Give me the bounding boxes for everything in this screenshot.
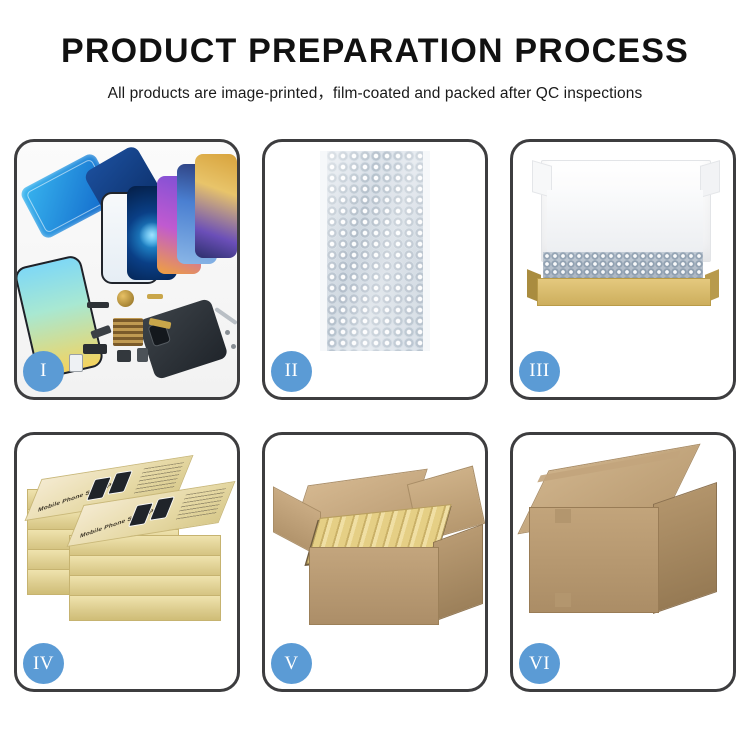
carton-front-panel — [529, 507, 659, 613]
step-panel-2[interactable]: II — [262, 139, 488, 400]
spare-part-flex-cable-icon — [147, 294, 163, 299]
spec-lines — [176, 488, 227, 520]
bubble-wrapped-contents-icon — [543, 252, 703, 280]
process-steps-grid: I II III — [14, 139, 736, 692]
plastic-sheen — [327, 151, 423, 351]
step-badge-5: V — [271, 643, 312, 684]
spare-part-screw-two-icon — [231, 344, 236, 349]
spare-part-chip-grid-icon — [113, 318, 143, 346]
step-panel-4[interactable]: Mobile Phone Spare Parts Mobile Phone Sp… — [14, 432, 240, 693]
carton-handle-tab — [555, 593, 571, 607]
phone-thumbnail-icon — [149, 496, 175, 521]
spare-part-screw-icon — [225, 330, 230, 335]
spec-lines — [134, 462, 185, 494]
step-badge-3: III — [519, 351, 560, 392]
step-badge-6: VI — [519, 643, 560, 684]
bubble-wrap-sheet-icon — [320, 151, 430, 351]
box-stack: Mobile Phone Spare Parts Mobile Phone Sp… — [23, 449, 229, 645]
phone-display-gold-icon — [195, 154, 237, 258]
page-header: PRODUCT PREPARATION PROCESS All products… — [0, 0, 750, 103]
carton-side-panel — [433, 523, 483, 621]
spare-part-camera-icon — [117, 350, 131, 362]
step-panel-6[interactable]: VI — [510, 432, 736, 693]
spare-part-speaker-icon — [117, 290, 134, 307]
page-subtitle: All products are image-printed，film-coat… — [0, 81, 750, 103]
step-panel-5[interactable]: V — [262, 432, 488, 693]
spare-part-button-icon — [137, 348, 148, 362]
step-badge-1: I — [23, 351, 64, 392]
step-badge-4: IV — [23, 643, 64, 684]
spare-part-module-icon — [83, 344, 107, 354]
kraft-box-front-icon — [537, 278, 711, 306]
carton-front-panel — [309, 547, 439, 625]
step-panel-1[interactable]: I — [14, 139, 240, 400]
page-title: PRODUCT PREPARATION PROCESS — [0, 34, 750, 70]
phone-thumbnail-icon — [107, 470, 133, 495]
step-badge-2: II — [271, 351, 312, 392]
foam-insert-icon — [547, 190, 703, 254]
step-panel-3[interactable]: III — [510, 139, 736, 400]
stacked-box — [69, 595, 221, 621]
spare-part-connector-icon — [87, 302, 109, 308]
spare-part-sim-tray-icon — [69, 354, 83, 372]
carton-handle-tab — [555, 509, 571, 523]
carton-side-panel — [653, 481, 717, 613]
